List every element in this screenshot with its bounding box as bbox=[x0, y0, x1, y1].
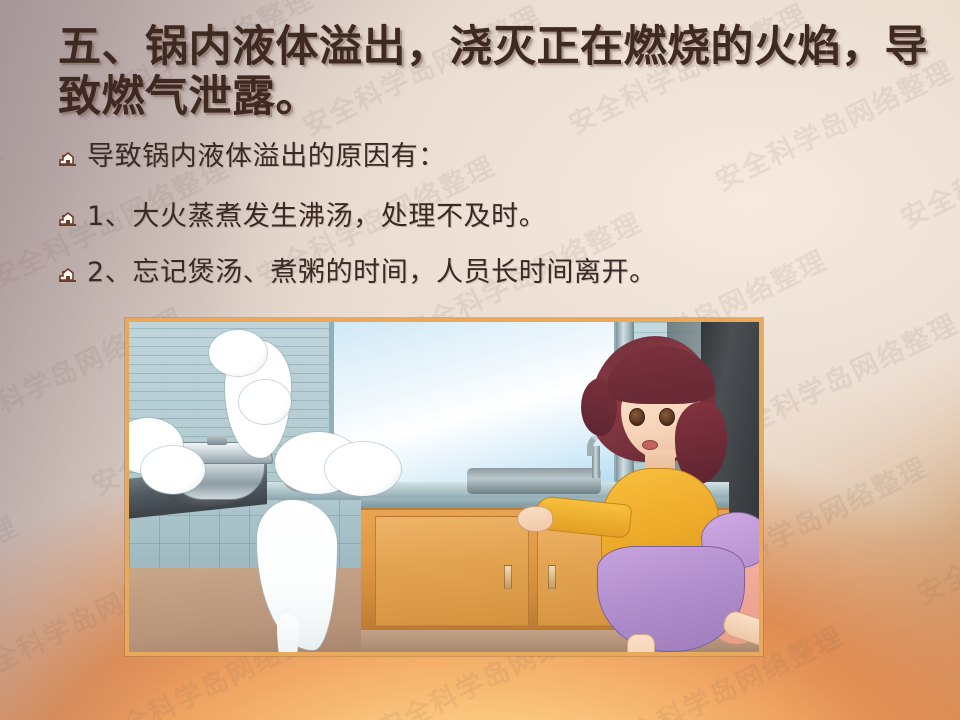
cabinet-handle bbox=[548, 565, 556, 589]
cabinet-door-left bbox=[375, 516, 529, 626]
house-icon bbox=[58, 209, 78, 229]
woman-hand bbox=[517, 506, 553, 532]
kitchen-illustration bbox=[125, 318, 763, 656]
woman-eye-left bbox=[629, 408, 645, 426]
list-item: 2、忘记煲汤、煮粥的时间，人员长时间离开。 bbox=[58, 256, 918, 290]
house-icon bbox=[58, 149, 78, 169]
woman-mouth bbox=[642, 440, 658, 450]
list-item-label: 1、大火蒸煮发生沸汤，处理不及时。 bbox=[87, 200, 546, 234]
overflow-drip bbox=[277, 614, 299, 652]
house-icon bbox=[58, 265, 78, 285]
cabinet-handle bbox=[504, 565, 512, 589]
bullet-list: 导致锅内液体溢出的原因有： 1、大火蒸煮发生沸汤，处理不及时。 bbox=[58, 140, 918, 311]
woman-leg-left bbox=[627, 634, 655, 652]
list-item: 导致锅内液体溢出的原因有： bbox=[58, 140, 918, 174]
pot-lid-knob bbox=[207, 434, 227, 445]
slide-canvas: 安全科学岛网络整理 安全科学岛网络整理 安全科学岛网络整理 安全科学岛网络整理 … bbox=[0, 0, 960, 720]
illustration-canvas bbox=[129, 322, 759, 652]
list-item-label: 2、忘记煲汤、煮粥的时间，人员长时间离开。 bbox=[87, 256, 657, 290]
foam-blob bbox=[141, 446, 205, 494]
foam-blob bbox=[209, 330, 267, 376]
foam-blob bbox=[239, 380, 291, 424]
woman-eye-right bbox=[659, 408, 675, 426]
list-item: 1、大火蒸煮发生沸汤，处理不及时。 bbox=[58, 200, 918, 234]
page-title: 五、锅内液体溢出，浇灭正在燃烧的火焰，导致燃气泄露。 bbox=[58, 22, 938, 123]
foam-blob bbox=[325, 442, 401, 496]
list-item-label: 导致锅内液体溢出的原因有： bbox=[87, 140, 446, 174]
